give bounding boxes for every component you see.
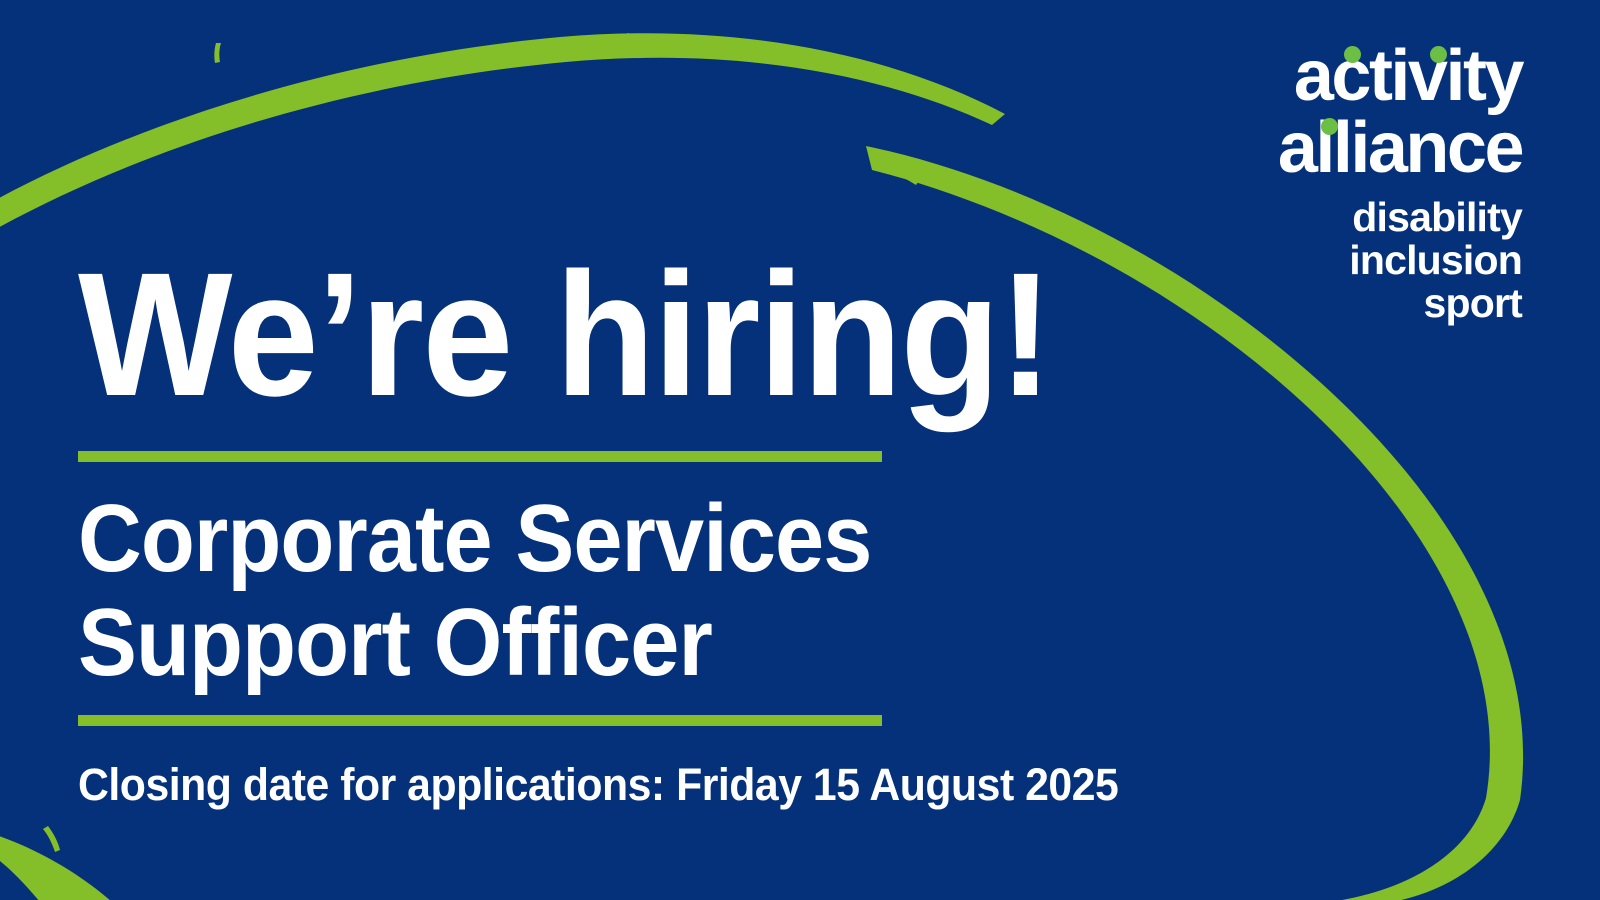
logo-tagline-line-3: sport (1278, 282, 1522, 325)
divider-top (78, 451, 882, 462)
page-title: We’re hiring! (78, 252, 1051, 419)
closing-date-text: Closing date for applications: Friday 15… (78, 760, 1118, 810)
divider-bottom (78, 715, 882, 726)
poster-content: We’re hiring! Corporate Services Support… (78, 0, 1258, 900)
activity-alliance-logo: activity alliance disability inclusion s… (1278, 42, 1522, 325)
logo-dot-icon-alliance-1 (1321, 118, 1338, 135)
logo-dot-icon-activity-2 (1430, 46, 1447, 63)
job-title-line-1: Corporate Services (78, 487, 906, 591)
logo-dot-icon-activity-1 (1344, 46, 1361, 63)
logo-word-alliance: alliance (1278, 114, 1522, 184)
logo-word-activity-text: activity (1294, 36, 1522, 116)
job-title-line-2: Support Officer (78, 591, 906, 695)
logo-word-activity: activity (1278, 42, 1522, 112)
swoosh-flick-d (43, 826, 60, 852)
logo-tagline: disability inclusion sport (1278, 196, 1522, 325)
logo-tagline-line-2: inclusion (1278, 239, 1522, 282)
logo-word-alliance-text: alliance (1278, 108, 1522, 188)
job-title: Corporate Services Support Officer (78, 487, 906, 694)
logo-tagline-line-1: disability (1278, 196, 1522, 239)
recruitment-poster: We’re hiring! Corporate Services Support… (0, 0, 1600, 900)
